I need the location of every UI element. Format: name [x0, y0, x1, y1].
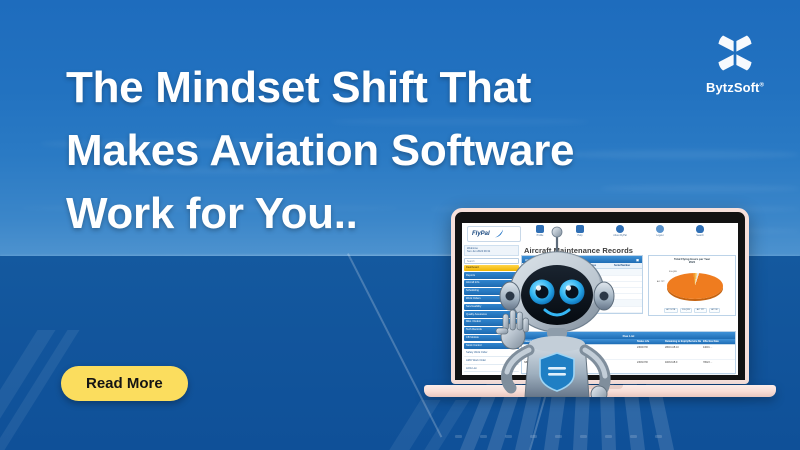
pie-chart-graphic — [667, 273, 723, 299]
flying-hours-chart-panel: Total Flying Hours per Year 2024 FG-QFB … — [648, 255, 736, 316]
runway-edge-lights — [255, 435, 800, 440]
registered-mark: ® — [760, 83, 765, 89]
brand-logo[interactable]: BytzSoft® — [698, 30, 772, 95]
four-petal-star-icon — [698, 30, 772, 76]
pie-chart: FG-QFB A/C 7PT — [649, 265, 735, 307]
read-more-button[interactable]: Read More — [61, 366, 188, 401]
flypal-mascot-robot — [495, 222, 625, 397]
pie-slice-label: FG-QFB — [669, 271, 677, 273]
brand-name: BytzSoft® — [698, 80, 772, 95]
legend-item[interactable]: A/C 7PT — [694, 308, 707, 313]
legend-item[interactable]: FG-QFB — [680, 308, 693, 313]
sidebar-date-text: Sun Jun 2024 09:31 — [467, 250, 490, 253]
panel-collapse-icon[interactable]: ▣ — [636, 258, 639, 262]
chart-legend: A/C 9C2B FG-QFB A/C 7PT A/C 3K — [649, 307, 735, 315]
chart-title: Total Flying Hours per Year 2024 — [649, 256, 735, 265]
legend-item[interactable]: A/C 3K — [709, 308, 720, 313]
pie-slice-label: A/C 7PT — [657, 281, 665, 283]
page-title: The Mindset Shift That Makes Aviation So… — [66, 56, 696, 245]
headline-line-2: Makes Aviation Software — [66, 119, 696, 182]
legend-item[interactable]: A/C 9C2B — [664, 308, 678, 313]
search-icon — [696, 225, 704, 233]
headline-line-1: The Mindset Shift That — [66, 56, 696, 119]
chart-subtitle: 2024 — [689, 260, 695, 264]
promo-banner: 2 8 The Mindset Shift That Makes Aviatio… — [0, 0, 800, 450]
